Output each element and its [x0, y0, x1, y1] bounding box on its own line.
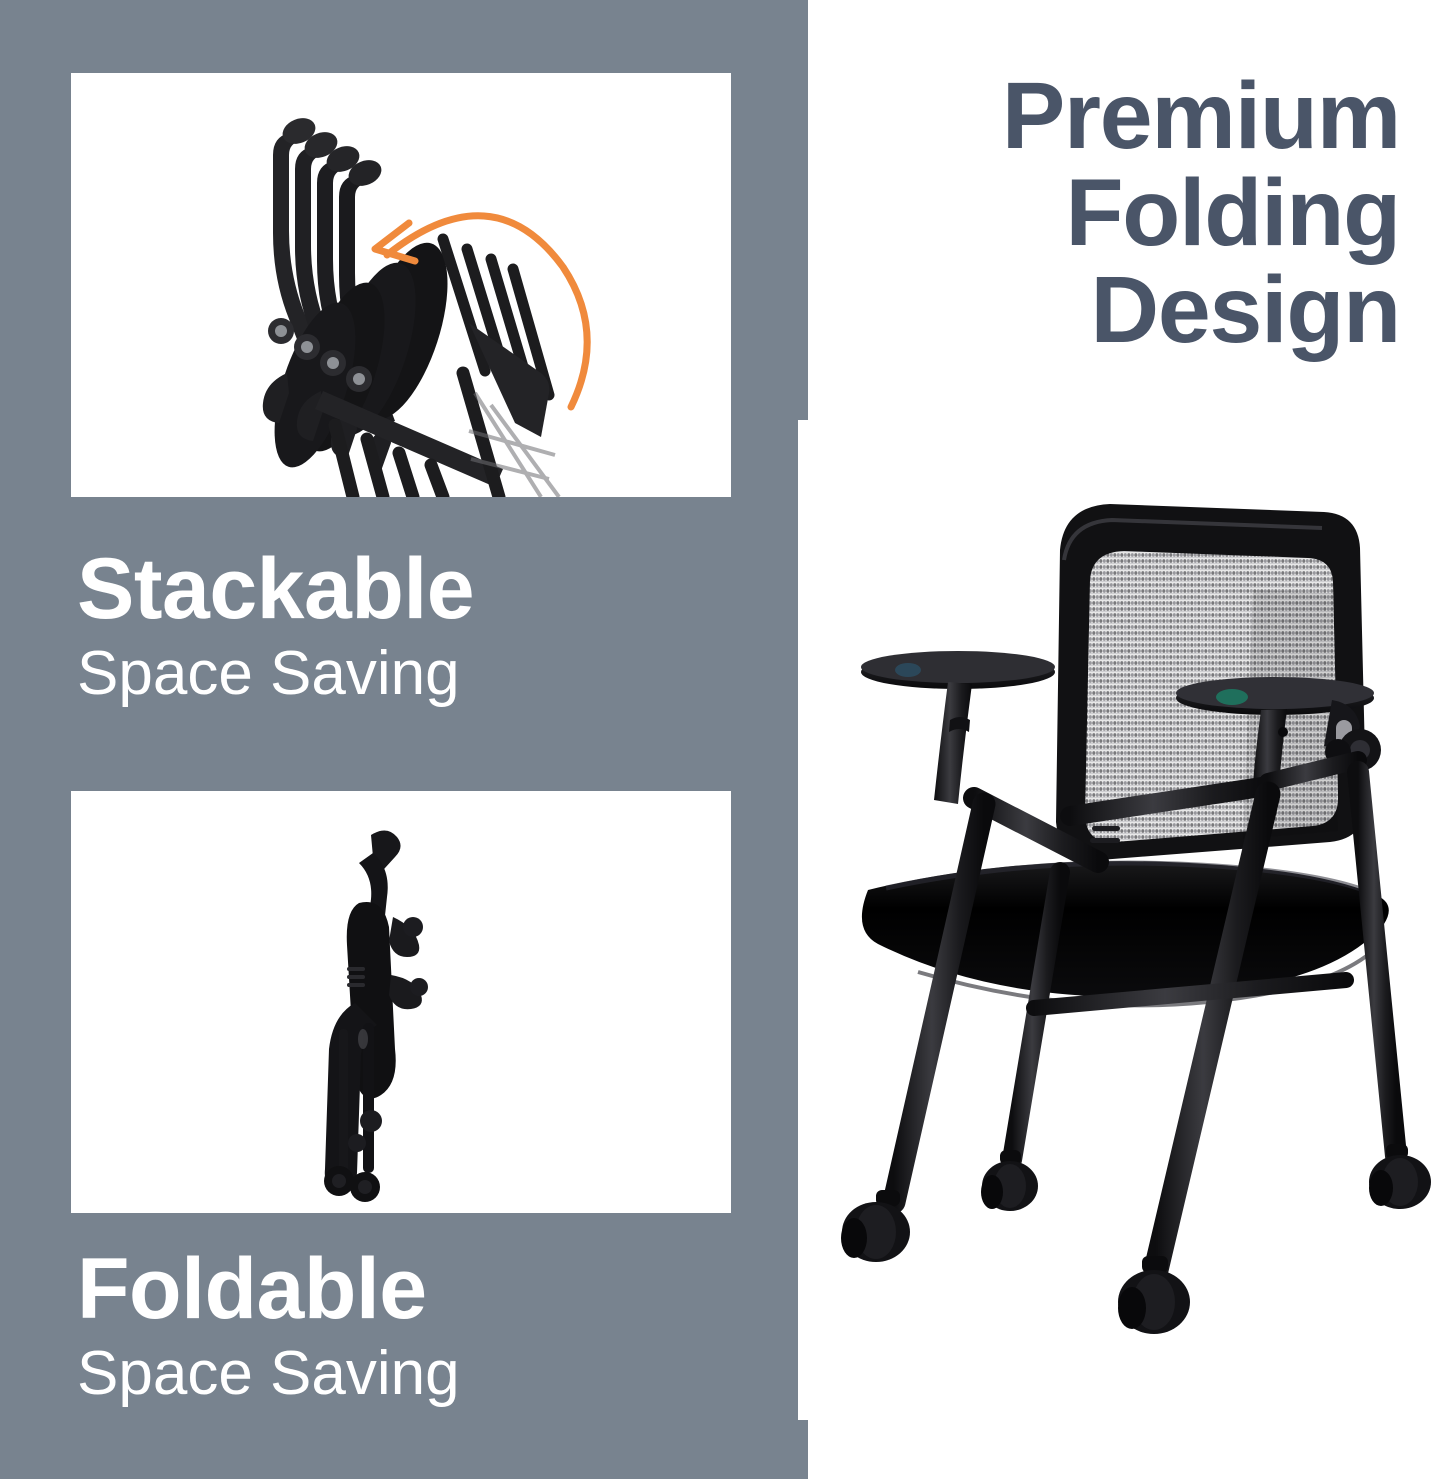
headline-line-1: Premium [840, 68, 1400, 165]
photo-card-stackable [71, 73, 731, 497]
feature-title-foldable: Foldable [77, 1248, 777, 1331]
left-feature-panel: Stackable Space Saving [0, 0, 808, 1479]
right-hero-panel: Premium Folding Design [808, 0, 1445, 1479]
folded-chair-illustration [71, 791, 731, 1213]
hero-headline: Premium Folding Design [840, 68, 1400, 359]
photo-card-foldable [71, 791, 731, 1213]
feature-title-stackable: Stackable [77, 548, 777, 631]
headline-line-3: Design [840, 262, 1400, 359]
feature-subtitle-stackable: Space Saving [77, 637, 777, 710]
feature-text-foldable: Foldable Space Saving [77, 1248, 777, 1410]
mesh-folding-chair-illustration [798, 420, 1445, 1420]
hero-chair-photo [798, 420, 1445, 1420]
feature-subtitle-foldable: Space Saving [77, 1337, 777, 1410]
feature-text-stackable: Stackable Space Saving [77, 548, 777, 710]
stacked-chairs-illustration [71, 73, 731, 497]
headline-line-2: Folding [840, 165, 1400, 262]
